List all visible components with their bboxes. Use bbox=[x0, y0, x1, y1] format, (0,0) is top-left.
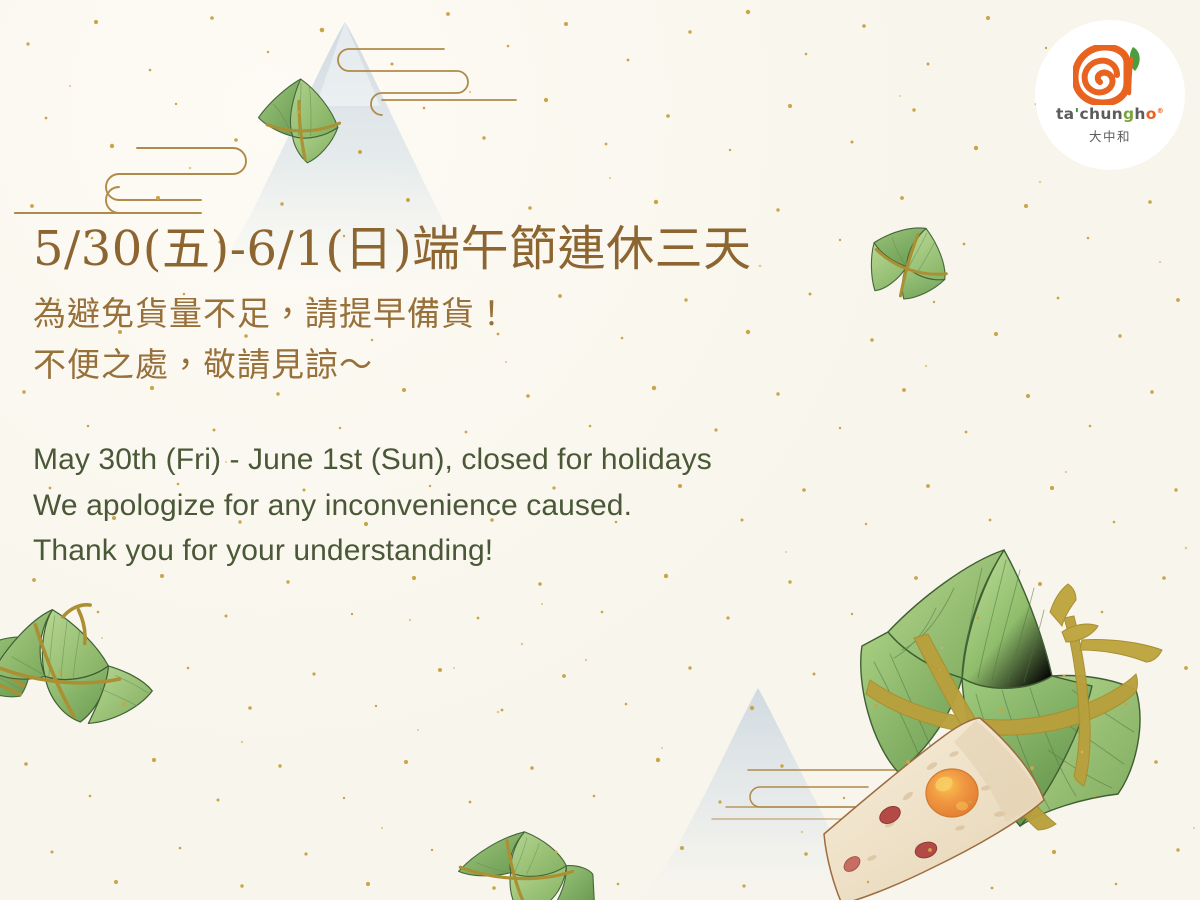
logo-word-chun: chun bbox=[1080, 105, 1124, 123]
poster-canvas: ta'chungho® 大中和 5/30(五)-6/1(日)端午節連休三天 為避… bbox=[0, 0, 1200, 900]
ta-chung-ho-logo[interactable]: ta'chungho® 大中和 bbox=[1035, 20, 1185, 170]
notice-subline-1: 為避免貨量不足，請提早備貨！ bbox=[33, 288, 893, 339]
logo-word-h: h bbox=[1134, 105, 1145, 123]
logo-chinese-name: 大中和 bbox=[1089, 126, 1131, 145]
notice-english-block: May 30th (Fri) - June 1st (Sun), closed … bbox=[33, 437, 933, 574]
notice-english-line-1: May 30th (Fri) - June 1st (Sun), closed … bbox=[33, 437, 933, 483]
notice-english-line-3: Thank you for your understanding! bbox=[33, 528, 933, 574]
notice-chinese-block: 5/30(五)-6/1(日)端午節連休三天 為避免貨量不足，請提早備貨！ 不便之… bbox=[33, 222, 893, 391]
logo-word-g: g bbox=[1123, 105, 1134, 123]
notice-english-line-2: We apologize for any inconvenience cause… bbox=[33, 483, 933, 529]
logo-wordmark: ta'chungho® bbox=[1056, 107, 1164, 123]
logo-word-o: o bbox=[1146, 105, 1157, 123]
logo-word-ta: ta bbox=[1056, 105, 1074, 123]
orange-spiral-fruit-with-leaf-icon bbox=[1073, 45, 1147, 105]
page-title: 5/30(五)-6/1(日)端午節連休三天 bbox=[33, 222, 893, 278]
logo-registered-mark: ® bbox=[1157, 107, 1164, 115]
notice-subline-2: 不便之處，敬請見諒～ bbox=[33, 339, 893, 390]
